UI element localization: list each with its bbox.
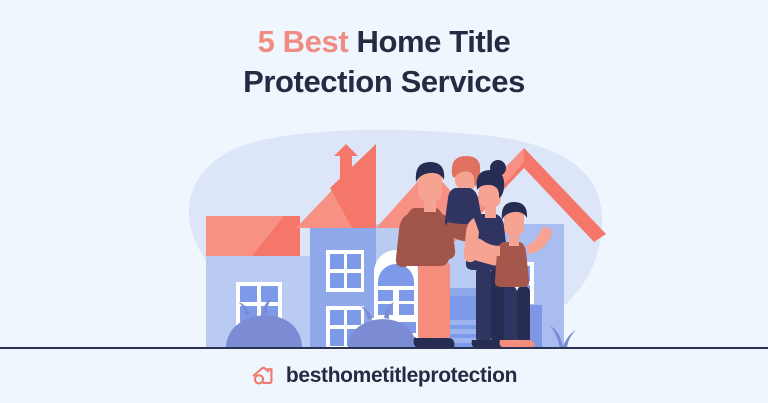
title-line-1-rest: Home Title (348, 24, 510, 59)
boy-leg-left (504, 286, 517, 344)
page-title: 5 Best Home Title Protection Services (0, 22, 768, 101)
father-leg-right (434, 260, 450, 342)
mother-hair-bun (490, 160, 506, 176)
brand-logo[interactable]: besthometitleprotection (251, 363, 517, 389)
boy-torso (495, 242, 529, 287)
title-line-1: 5 Best Home Title (0, 22, 768, 62)
house-outline-icon (251, 363, 277, 389)
hero-illustration (0, 110, 768, 350)
boy-leg-right (517, 286, 530, 344)
footer: besthometitleprotection (0, 349, 768, 403)
mid-wing-window-upper (326, 250, 364, 292)
title-line-2: Protection Services (0, 62, 768, 102)
brand-name: besthometitleprotection (286, 364, 517, 388)
illustration-svg (0, 110, 768, 350)
mother-leg-left (476, 266, 491, 344)
banner: 5 Best Home Title Protection Services (0, 0, 768, 403)
father-leg-left (418, 260, 434, 342)
title-accent: 5 Best (258, 24, 349, 59)
